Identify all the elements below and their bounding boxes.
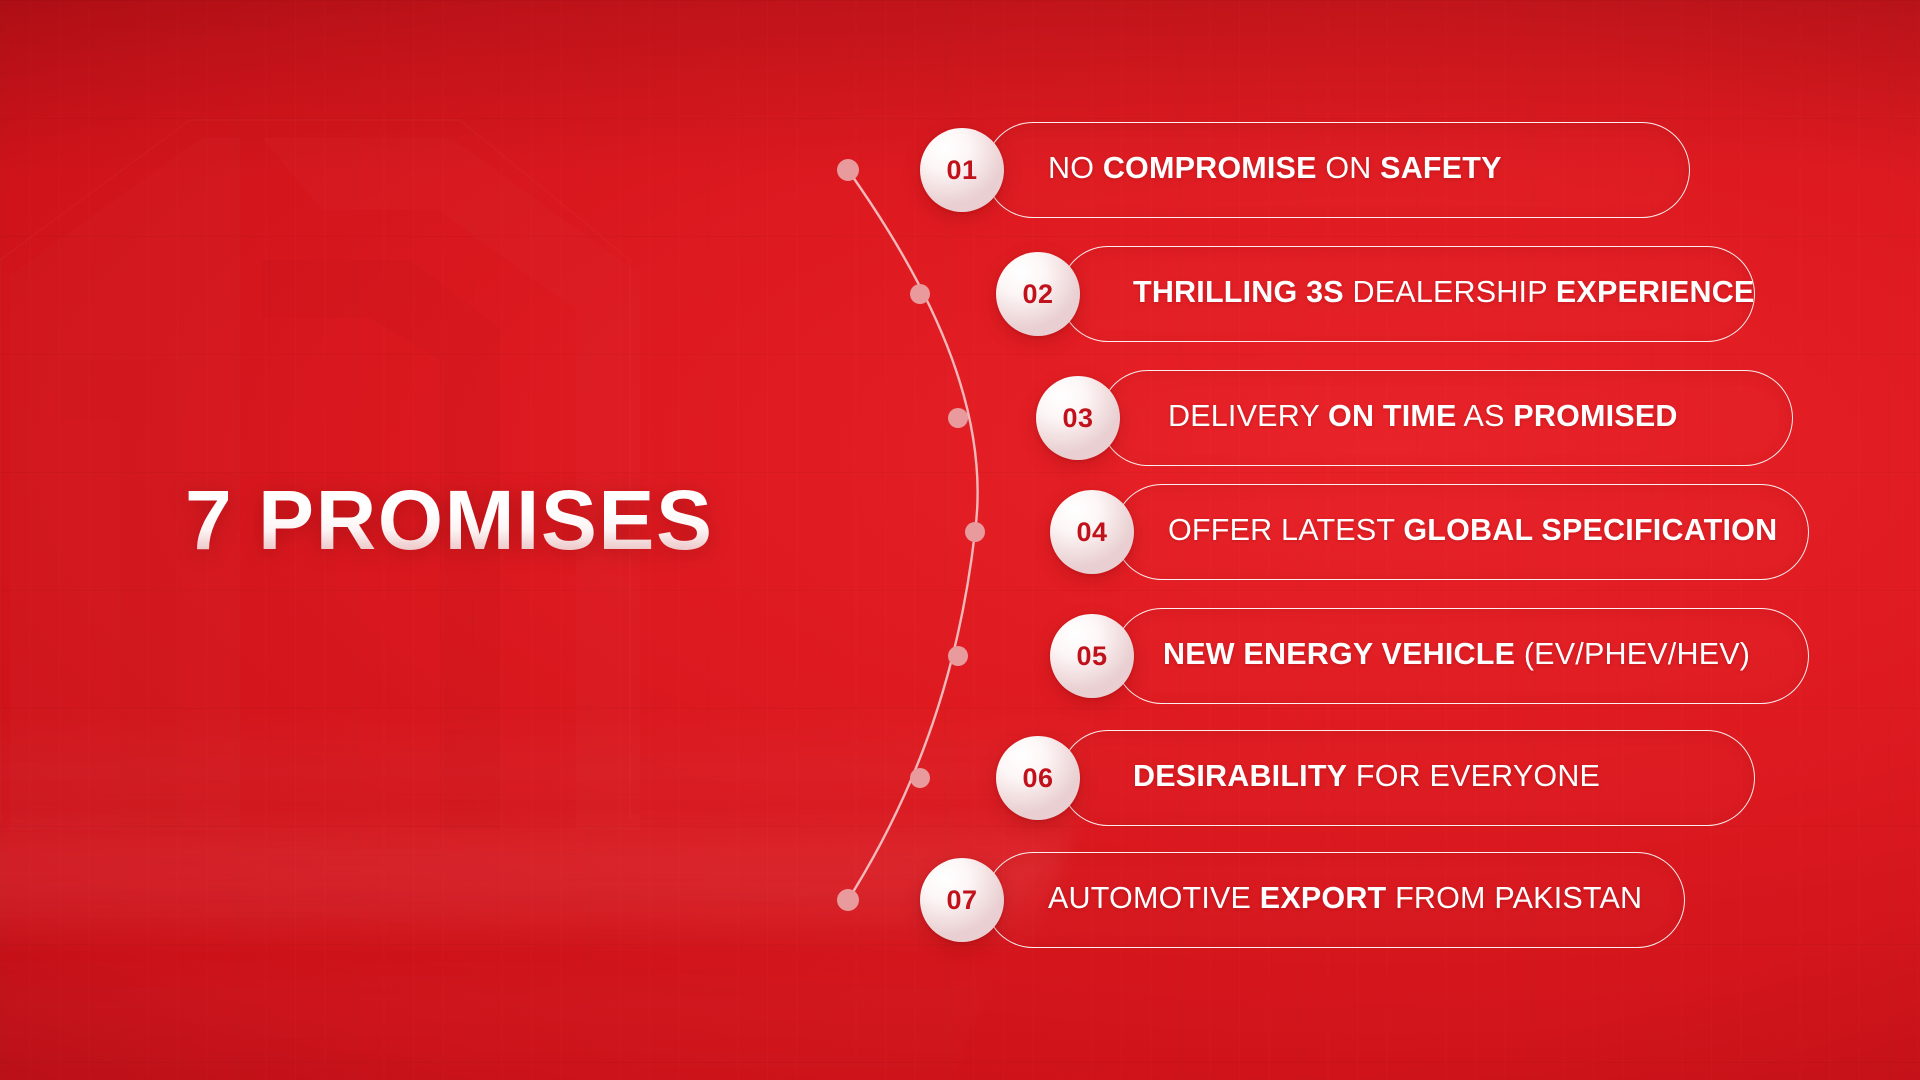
promise-text-emphasis: NEW ENERGY VEHICLE [1163,637,1515,671]
promise-number-badge[interactable]: 03 [1036,376,1120,460]
promise-text-regular: DELIVERY [1168,399,1328,433]
promise-number-badge[interactable]: 01 [920,128,1004,212]
promise-number-label: 04 [1076,519,1107,546]
promise-text-regular: FOR EVERYONE [1347,759,1600,793]
promise-text: NEW ENERGY VEHICLE (EV/PHEV/HEV) [1163,639,1750,670]
promise-row[interactable]: 04OFFER LATEST GLOBAL SPECIFICATION [0,484,1920,580]
promise-number-badge[interactable]: 04 [1050,490,1134,574]
promise-text-regular: AS [1457,399,1514,433]
promise-row[interactable]: 01NO COMPROMISE ON SAFETY [0,122,1920,218]
promise-text-regular: OFFER LATEST [1168,513,1403,547]
promise-text-emphasis: COMPROMISE [1103,151,1317,185]
promise-number-badge[interactable]: 02 [996,252,1080,336]
promise-text-regular: ON [1317,151,1381,185]
promise-text: DELIVERY ON TIME AS PROMISED [1168,401,1678,432]
promise-text-regular: (EV/PHEV/HEV) [1515,637,1750,671]
promise-number-label: 06 [1022,765,1053,792]
promise-text-emphasis: DESIRABILITY [1133,759,1347,793]
promise-text-emphasis: GLOBAL SPECIFICATION [1403,513,1777,547]
promise-row[interactable]: 02THRILLING 3S DEALERSHIP EXPERIENCE [0,246,1920,342]
promise-text: THRILLING 3S DEALERSHIP EXPERIENCE [1133,277,1754,308]
promise-number-label: 03 [1062,405,1093,432]
promise-number-badge[interactable]: 06 [996,736,1080,820]
promise-number-label: 05 [1076,643,1107,670]
promise-number-label: 07 [946,887,977,914]
promise-row[interactable]: 07AUTOMOTIVE EXPORT FROM PAKISTAN [0,852,1920,948]
promise-row[interactable]: 06DESIRABILITY FOR EVERYONE [0,730,1920,826]
promise-text-emphasis: EXPERIENCE [1556,275,1755,309]
promise-row[interactable]: 05NEW ENERGY VEHICLE (EV/PHEV/HEV) [0,608,1920,704]
promise-text-emphasis: EXPORT [1260,881,1387,915]
promise-text-emphasis: SAFETY [1380,151,1502,185]
promise-number-label: 01 [946,157,977,184]
promise-text-emphasis: THRILLING 3S [1133,275,1344,309]
promise-text-regular: DEALERSHIP [1344,275,1556,309]
promise-number-label: 02 [1022,281,1053,308]
promise-text-regular: NO [1048,151,1103,185]
slide-canvas: 7 PROMISES 01NO COMPROMISE ON SAFETY02TH… [0,0,1920,1080]
promise-row[interactable]: 03DELIVERY ON TIME AS PROMISED [0,370,1920,466]
promise-number-badge[interactable]: 05 [1050,614,1134,698]
promise-text: NO COMPROMISE ON SAFETY [1048,153,1502,184]
promise-number-badge[interactable]: 07 [920,858,1004,942]
promise-text: AUTOMOTIVE EXPORT FROM PAKISTAN [1048,883,1642,914]
promise-text: OFFER LATEST GLOBAL SPECIFICATION [1168,515,1777,546]
promise-text-emphasis: PROMISED [1513,399,1677,433]
promise-text: DESIRABILITY FOR EVERYONE [1133,761,1600,792]
promise-text-regular: AUTOMOTIVE [1048,881,1260,915]
promise-text-regular: FROM PAKISTAN [1386,881,1642,915]
promise-text-emphasis: ON TIME [1328,399,1456,433]
